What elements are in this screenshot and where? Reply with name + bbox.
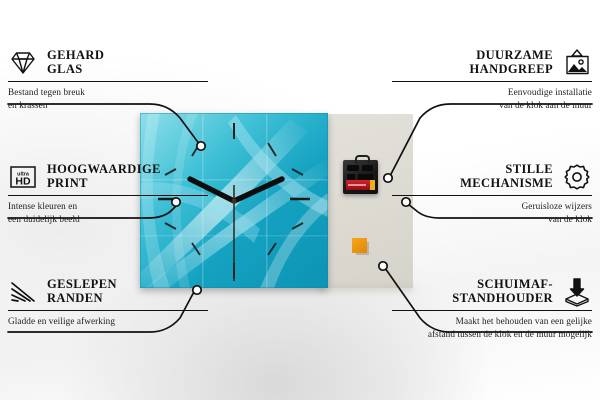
battery: [346, 180, 375, 190]
desc-line-1: Maakt het behouden van een gelijke: [456, 316, 592, 326]
foam-spacer: [352, 238, 367, 253]
desc-line-1: Geruisloze wijzers: [522, 201, 592, 211]
title-line-2: GLAS: [47, 63, 104, 77]
press-down-spacer-icon: [562, 277, 592, 307]
feature-hoogwaardige-print[interactable]: ultra HD HOOGWAARDIGE PRINT Intense kleu…: [8, 162, 208, 227]
feature-description: Geruisloze wijzers van de klok: [392, 200, 592, 226]
title-line-2: RANDEN: [47, 292, 117, 306]
desc-line-2: een duidelijk beeld: [8, 214, 80, 224]
feature-stille-mechanisme[interactable]: STILLE MECHANISME Geruisloze wijzers van…: [392, 162, 592, 227]
desc-line-2: afstand tussen de klok en de muur mogeli…: [428, 329, 592, 339]
mechanism-detail: [362, 165, 373, 171]
feature-description: Maakt het behouden van een gelijke afsta…: [392, 315, 592, 341]
title-line-1: SCHUIMAF-: [452, 278, 553, 292]
feature-description: Eenvoudige installatie van de klok aan d…: [392, 86, 592, 112]
feature-duurzame-handgreep[interactable]: DUURZAME HANDGREEP Eenvoudige installati…: [392, 48, 592, 113]
feature-header: GEHARD GLAS: [8, 48, 208, 78]
feature-description: Intense kleuren en een duidelijk beeld: [8, 200, 208, 226]
desc-line-1: Gladde en veilige afwerking: [8, 316, 115, 326]
divider: [392, 310, 592, 311]
feature-title: SCHUIMAF- STANDHOUDER: [452, 278, 553, 306]
feature-description: Bestand tegen breuk en krassen: [8, 86, 208, 112]
title-line-1: HOOGWAARDIGE: [47, 163, 161, 177]
ultra-hd-icon: ultra HD: [8, 162, 38, 192]
feature-header: STILLE MECHANISME: [392, 162, 592, 192]
desc-line-2: van de klok aan de muur: [499, 100, 592, 110]
title-line-1: STILLE: [460, 163, 553, 177]
infographic-canvas: GEHARD GLAS Bestand tegen breuk en krass…: [0, 0, 600, 400]
title-line-2: HANDGREEP: [470, 63, 553, 77]
feature-header: DUURZAME HANDGREEP: [392, 48, 592, 78]
bevel-lines-icon: [8, 277, 38, 307]
feature-header: ultra HD HOOGWAARDIGE PRINT: [8, 162, 208, 192]
divider: [8, 310, 208, 311]
title-line-1: GEHARD: [47, 49, 104, 63]
diamond-icon: [8, 48, 38, 78]
desc-line-1: Bestand tegen breuk: [8, 87, 85, 97]
title-line-2: STANDHOUDER: [452, 292, 553, 306]
mechanism-detail: [347, 165, 359, 171]
title-line-2: MECHANISME: [460, 177, 553, 191]
feature-title: DUURZAME HANDGREEP: [470, 49, 553, 77]
feature-gehard-glas[interactable]: GEHARD GLAS Bestand tegen breuk en krass…: [8, 48, 208, 113]
divider: [392, 81, 592, 82]
feature-title: GESLEPEN RANDEN: [47, 278, 117, 306]
title-line-2: PRINT: [47, 177, 161, 191]
title-line-1: DUURZAME: [470, 49, 553, 63]
battery-terminal: [370, 180, 375, 190]
mechanism-hanger: [355, 155, 370, 164]
feature-description: Gladde en veilige afwerking: [8, 315, 208, 328]
title-line-1: GESLEPEN: [47, 278, 117, 292]
feature-header: SCHUIMAF- STANDHOUDER: [392, 277, 592, 307]
divider: [8, 81, 208, 82]
gear-icon: [562, 162, 592, 192]
desc-line-1: Intense kleuren en: [8, 201, 77, 211]
feature-title: GEHARD GLAS: [47, 49, 104, 77]
divider: [392, 195, 592, 196]
feature-header: GESLEPEN RANDEN: [8, 277, 208, 307]
divider: [8, 195, 208, 196]
desc-line-2: van de klok: [548, 214, 592, 224]
desc-line-1: Eenvoudige installatie: [508, 87, 592, 97]
feature-title: HOOGWAARDIGE PRINT: [47, 163, 161, 191]
hanging-picture-icon: [562, 48, 592, 78]
feature-title: STILLE MECHANISME: [460, 163, 553, 191]
battery-stripe: [348, 184, 366, 186]
feature-schuimafstandhouder[interactable]: SCHUIMAF- STANDHOUDER Maakt het behouden…: [392, 277, 592, 342]
feature-geslepen-randen[interactable]: GESLEPEN RANDEN Gladde en veilige afwerk…: [8, 277, 208, 328]
clock-mechanism: [343, 160, 378, 194]
desc-line-2: en krassen: [8, 100, 48, 110]
icon-label-big: HD: [15, 175, 31, 187]
